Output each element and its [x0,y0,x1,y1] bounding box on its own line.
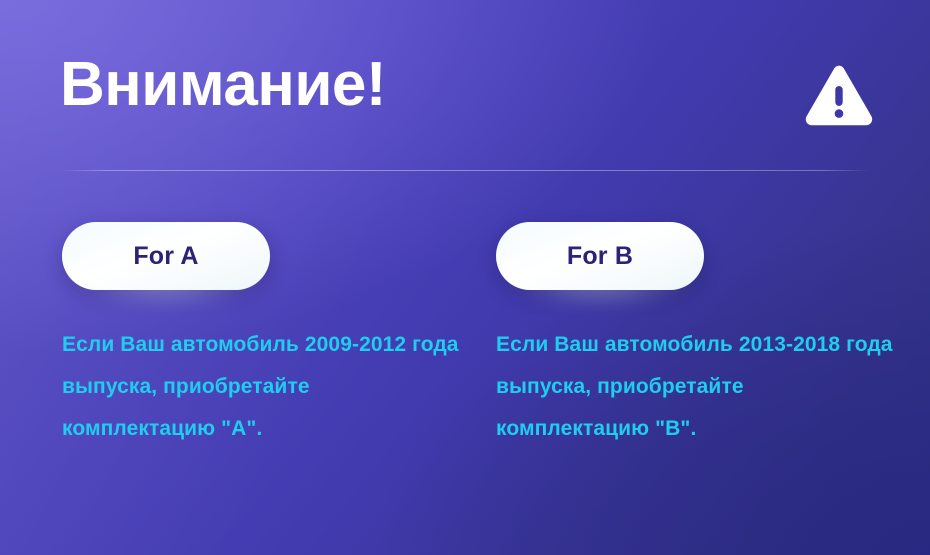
header-divider [60,170,870,171]
option-a-button-wrap: For A [62,222,270,290]
option-column-b: For B Если Ваш автомобиль 2013-2018 года… [496,222,916,450]
for-b-button[interactable]: For B [496,222,704,290]
option-column-a: For A Если Ваш автомобиль 2009-2012 года… [62,222,482,450]
attention-banner: Внимание! For A Если Ваш автомобиль 2009… [0,0,930,555]
for-a-button[interactable]: For A [62,222,270,290]
option-b-description: Если Ваш автомобиль 2013-2018 года выпус… [496,290,896,450]
page-title: Внимание! [60,52,386,117]
option-b-button-wrap: For B [496,222,704,290]
option-a-description: Если Ваш автомобиль 2009-2012 года выпус… [62,290,462,450]
warning-triangle-icon [804,64,874,128]
